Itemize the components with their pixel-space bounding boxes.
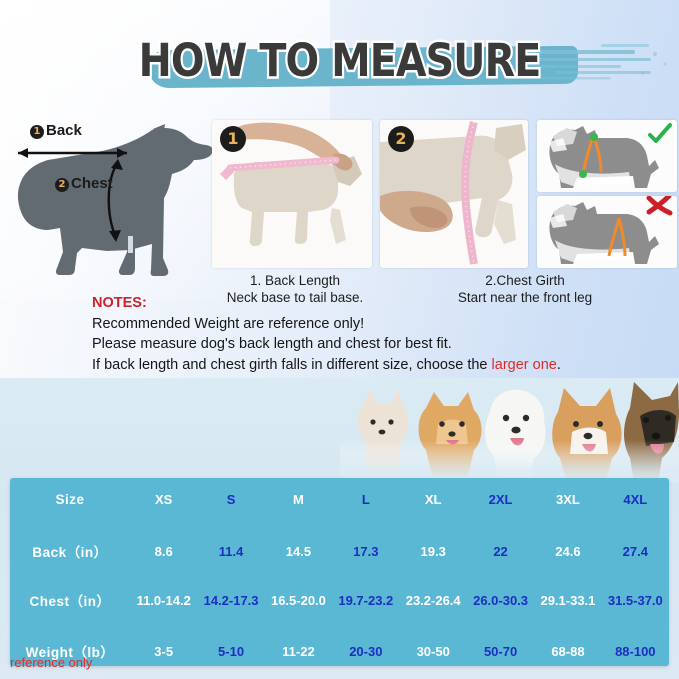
cell-size-xs: XS [130, 492, 197, 507]
photo-badge-one: 1 [220, 126, 246, 152]
dog-lineup-icon [340, 382, 679, 482]
cell-weight-2xl: 50-70 [467, 644, 534, 659]
cell-chest-xl: 23.2-26.4 [400, 593, 467, 608]
cell-size-s: S [197, 492, 264, 507]
cell-back-m: 14.5 [265, 544, 332, 559]
dog-breed-lineup [340, 382, 679, 482]
cross-icon [645, 196, 673, 218]
caption2-line1: 2.Chest Girth [430, 272, 620, 289]
chest-measure-label: 2Chest [55, 175, 113, 192]
cell-chest-m: 16.5-20.0 [265, 593, 332, 608]
table-row-size: Size XS S M L XL 2XL 3XL 4XL [10, 492, 669, 507]
notes-header: NOTES: [92, 293, 652, 314]
cell-chest-4xl: 31.5-37.0 [602, 593, 669, 608]
cell-chest-xs: 11.0-14.2 [130, 593, 197, 608]
badge-two-icon: 2 [55, 178, 69, 192]
back-label-text: Back [46, 122, 82, 139]
cell-chest-2xl: 26.0-30.3 [467, 593, 534, 608]
cell-weight-4xl: 88-100 [602, 644, 669, 659]
cell-size-3xl: 3XL [534, 492, 601, 507]
back-measure-label: 1Back [30, 122, 82, 139]
table-row-chest: Chest（in） 11.0-14.2 14.2-17.3 16.5-20.0 … [10, 590, 669, 610]
row-label-back: Back（in） [10, 541, 130, 561]
row-label-size: Size [10, 492, 130, 507]
table-row-back: Back（in） 8.6 11.4 14.5 17.3 19.3 22 24.6… [10, 541, 669, 561]
table-footnote: reference only [10, 655, 92, 670]
dog-silhouette-icon [2, 118, 217, 278]
cell-weight-xs: 3-5 [130, 644, 197, 659]
photo-back-length: 1 [212, 120, 372, 268]
check-icon [647, 122, 673, 146]
cell-weight-s: 5-10 [197, 644, 264, 659]
cell-weight-3xl: 68-88 [534, 644, 601, 659]
cell-size-l: L [332, 492, 399, 507]
cell-back-l: 17.3 [332, 544, 399, 559]
notes-line-1: Recommended Weight are reference only! [92, 314, 652, 335]
cell-back-xl: 19.3 [400, 544, 467, 559]
row-label-chest: Chest（in） [10, 590, 130, 610]
size-chart-infographic: HOW TO MEASURE 1Back 2Chest [0, 0, 679, 679]
photo-incorrect-placement [537, 196, 677, 268]
cell-size-m: M [265, 492, 332, 507]
notes-line3-emphasis: larger one [492, 357, 557, 373]
photo-correct-placement [537, 120, 677, 192]
table-row-weight: Weight（lb） 3-5 5-10 11-22 20-30 30-50 50… [10, 641, 669, 661]
dog-silhouette-diagram [2, 118, 217, 278]
cell-chest-3xl: 29.1-33.1 [534, 593, 601, 608]
cell-back-3xl: 24.6 [534, 544, 601, 559]
notes-line3-pre: If back length and chest girth falls in … [92, 357, 492, 373]
cell-chest-s: 14.2-17.3 [197, 593, 264, 608]
title-banner: HOW TO MEASURE [0, 34, 679, 96]
cell-back-xs: 8.6 [130, 544, 197, 559]
cell-back-2xl: 22 [467, 544, 534, 559]
cell-weight-m: 11-22 [265, 644, 332, 659]
size-table: Size XS S M L XL 2XL 3XL 4XL Back（in） 8.… [10, 478, 669, 666]
cell-weight-xl: 30-50 [400, 644, 467, 659]
notes-block: NOTES: Recommended Weight are reference … [92, 293, 652, 375]
cell-weight-l: 20-30 [332, 644, 399, 659]
cell-size-2xl: 2XL [467, 492, 534, 507]
cell-back-4xl: 27.4 [602, 544, 669, 559]
photo-badge-two: 2 [388, 126, 414, 152]
notes-line-2: Please measure dog's back length and che… [92, 334, 652, 355]
photo-chest-girth: 2 [380, 120, 528, 268]
caption1-line1: 1. Back Length [200, 272, 390, 289]
cell-size-xl: XL [400, 492, 467, 507]
cell-size-4xl: 4XL [602, 492, 669, 507]
cell-chest-l: 19.7-23.2 [332, 593, 399, 608]
notes-line3-post: . [557, 357, 561, 373]
cell-back-s: 11.4 [197, 544, 264, 559]
chest-label-text: Chest [71, 175, 113, 192]
page-title: HOW TO MEASURE [41, 34, 639, 87]
badge-one-icon: 1 [30, 125, 44, 139]
notes-line-3: If back length and chest girth falls in … [92, 355, 652, 376]
